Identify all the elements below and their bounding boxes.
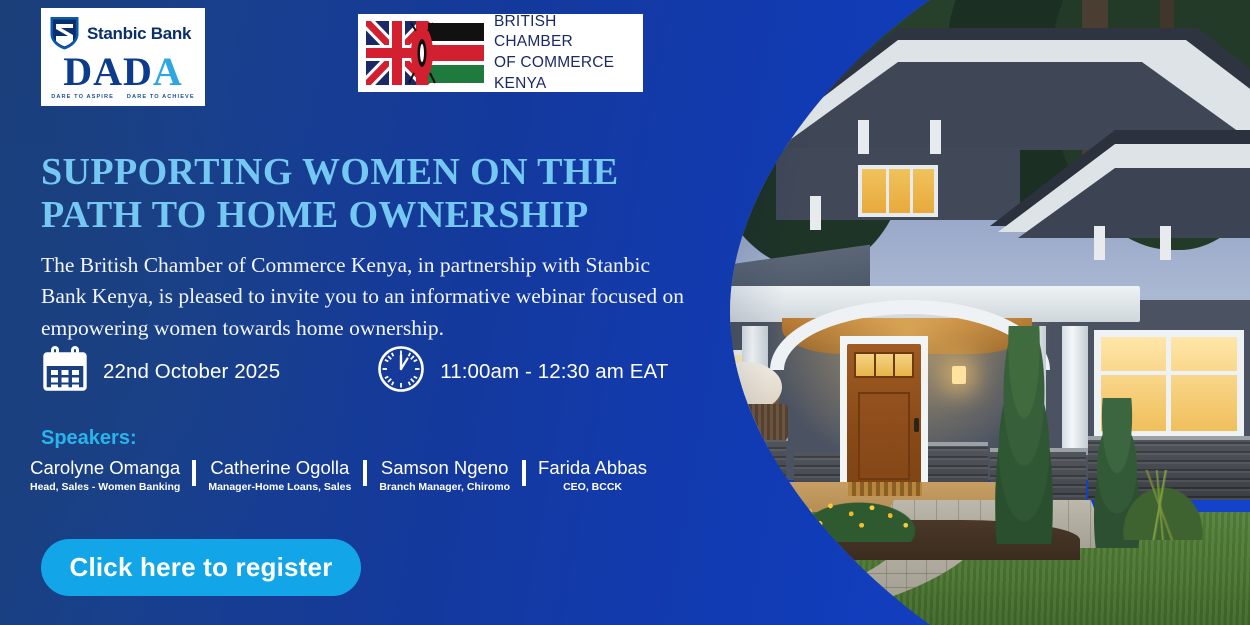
bcck-wordmark: BRITISH CHAMBER OF COMMERCE KENYA <box>494 12 635 94</box>
clock-icon <box>376 344 426 399</box>
door-window <box>854 352 914 378</box>
bcck-line-1: BRITISH CHAMBER <box>494 13 573 51</box>
ornamental-grass <box>1108 470 1218 540</box>
speaker-name: Carolyne Omanga <box>30 458 180 479</box>
stanbic-wordmark: Stanbic Bank <box>87 25 191 42</box>
list-item: Samson Ngeno Branch Manager, Chiromo <box>367 458 522 493</box>
list-item: Catherine Ogolla Manager-Home Loans, Sal… <box>196 458 363 493</box>
dada-letter: D <box>63 49 93 94</box>
uk-kenya-flag-icon <box>366 21 484 85</box>
conifer-shrub <box>982 326 1066 544</box>
bcck-line-3: KENYA <box>494 75 546 92</box>
description-text: The British Chamber of Commerce Kenya, i… <box>41 250 696 345</box>
stanbic-lockup: Stanbic Bank <box>49 14 197 52</box>
list-item: Farida Abbas CEO, BCCK <box>526 458 659 493</box>
door-handle <box>914 418 919 432</box>
dada-tagline: DARE TO ASPIRE DARE TO ACHIEVE <box>49 94 197 100</box>
dada-letter-accent: A <box>153 49 183 94</box>
stanbic-dada-logo: Stanbic Bank DADA DARE TO ASPIRE DARE TO… <box>41 8 205 106</box>
gable-brace <box>810 196 821 230</box>
dada-wordmark: DADA <box>49 54 197 91</box>
gable-brace <box>1160 226 1171 260</box>
wall-sconce-light <box>952 366 966 384</box>
dada-tagline-right: DARE TO ACHIEVE <box>127 94 195 100</box>
speaker-name: Samson Ngeno <box>379 458 510 479</box>
register-button[interactable]: Click here to register <box>41 539 361 596</box>
upper-window <box>858 165 938 217</box>
event-date: 22nd October 2025 <box>41 345 280 398</box>
speaker-role: CEO, BCCK <box>538 481 647 493</box>
calendar-icon <box>41 345 89 398</box>
gable-brace <box>930 120 941 154</box>
gable-brace <box>1094 226 1105 260</box>
speaker-name: Catherine Ogolla <box>208 458 351 479</box>
stanbic-shield-icon <box>49 15 80 51</box>
speaker-role: Branch Manager, Chiromo <box>379 481 510 493</box>
door-mat <box>848 482 922 496</box>
bcck-line-2: OF COMMERCE <box>494 54 614 71</box>
speaker-role: Manager-Home Loans, Sales <box>208 481 351 493</box>
page-title: SUPPORTING WOMEN ON THE PATH TO HOME OWN… <box>41 151 691 237</box>
event-time: 11:00am - 12:30 am EAT <box>376 344 668 399</box>
event-time-text: 11:00am - 12:30 am EAT <box>440 360 668 384</box>
bcck-logo: BRITISH CHAMBER OF COMMERCE KENYA <box>358 14 643 92</box>
speaker-role: Head, Sales - Women Banking <box>30 481 180 493</box>
list-item: Carolyne Omanga Head, Sales - Women Bank… <box>18 458 192 493</box>
gable-brace <box>858 120 869 154</box>
speakers-list: Carolyne Omanga Head, Sales - Women Bank… <box>18 458 659 493</box>
speaker-name: Farida Abbas <box>538 458 647 479</box>
dada-letter: D <box>123 49 153 94</box>
right-gable-face <box>1018 168 1250 238</box>
door-panel <box>858 392 910 480</box>
event-date-text: 22nd October 2025 <box>103 360 280 384</box>
dada-letter: A <box>93 49 123 94</box>
event-meta: 22nd October 2025 <box>41 344 668 399</box>
speakers-heading: Speakers: <box>41 427 137 450</box>
dada-tagline-left: DARE TO ASPIRE <box>51 94 114 100</box>
webinar-promo-banner: Stanbic Bank DADA DARE TO ASPIRE DARE TO… <box>0 0 1250 625</box>
